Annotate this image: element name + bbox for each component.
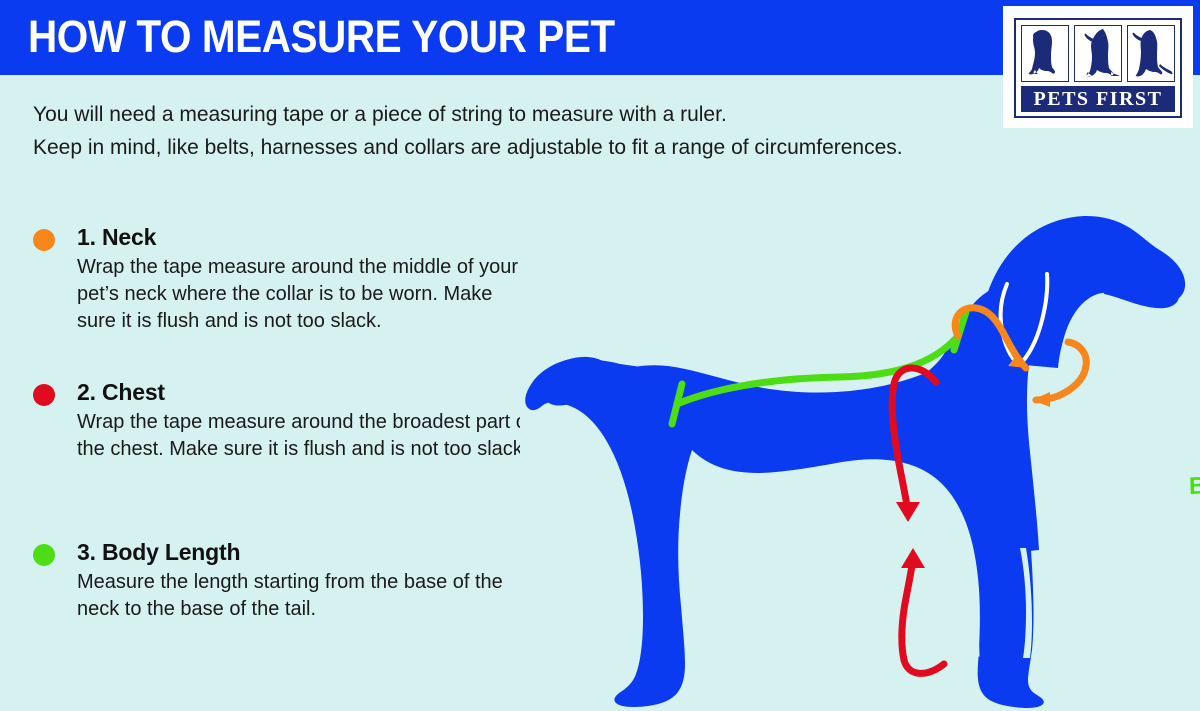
infographic-page: HOW TO MEASURE YOUR PET PETS FIRST [0,0,1200,711]
howling-dog-silhouette-icon [1074,25,1122,82]
step-description: Wrap the tape measure around the broades… [77,409,533,463]
intro-line-2: Keep in mind, like belts, harnesses and … [33,131,983,164]
bullet-neck-icon [33,229,55,251]
step-title: 2. Chest [77,377,533,407]
step-description: Measure the length starting from the bas… [77,569,533,623]
step-item-body-length: 3. Body Length Measure the length starti… [33,537,533,623]
step-description: Wrap the tape measure around the middle … [77,254,533,335]
dog-body-shape [520,186,1200,711]
page-title: HOW TO MEASURE YOUR PET [28,13,615,61]
step-title: 1. Neck [77,222,533,252]
sitting-dog-silhouette-icon [1021,25,1069,82]
bullet-body-length-icon [33,544,55,566]
step-item-neck: 1. Neck Wrap the tape measure around the… [33,222,533,335]
dog-measurement-illustration: BODY LENGTH NECK CHEST [520,186,1200,711]
standing-dog-silhouette-icon [1127,25,1175,82]
intro-text: You will need a measuring tape or a piec… [33,98,983,164]
step-item-chest: 2. Chest Wrap the tape measure around th… [33,377,533,463]
bullet-chest-icon [33,384,55,406]
step-title: 3. Body Length [77,537,533,567]
intro-line-1: You will need a measuring tape or a piec… [33,98,983,131]
logo-frame: PETS FIRST [1014,18,1182,118]
pets-first-logo: PETS FIRST [1003,6,1193,128]
logo-wordmark: PETS FIRST [1021,86,1175,112]
